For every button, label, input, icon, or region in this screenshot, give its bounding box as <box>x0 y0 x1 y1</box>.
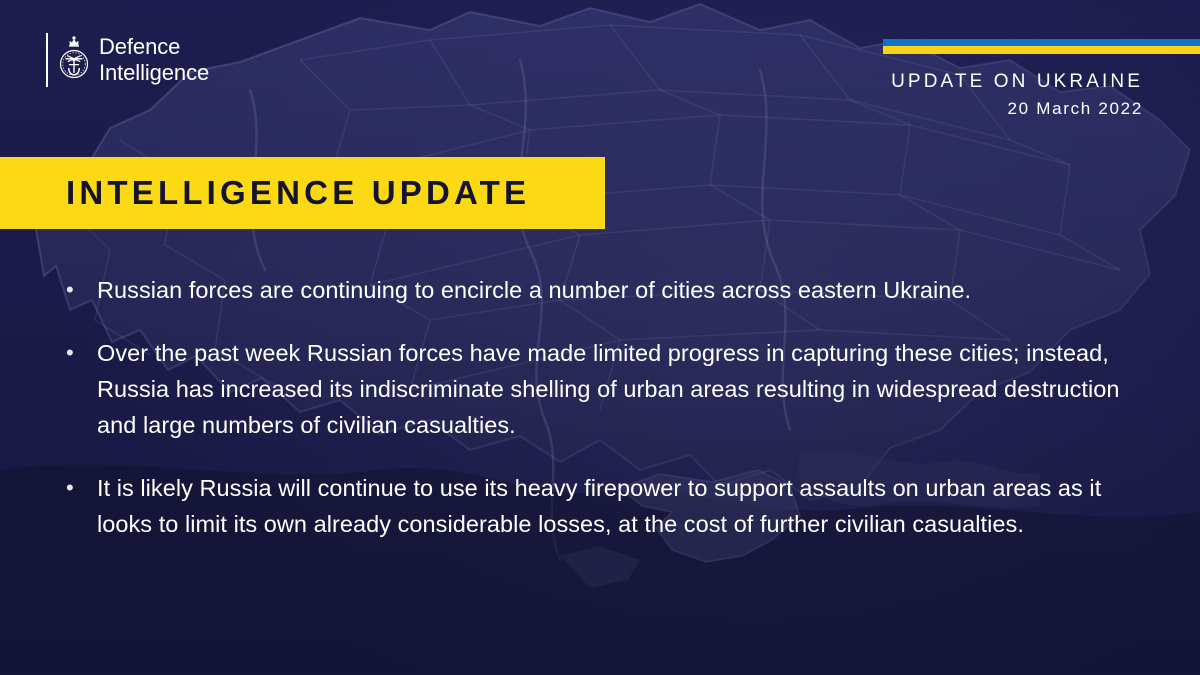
update-title: UPDATE ON UKRAINE <box>891 70 1143 93</box>
update-date: 20 March 2022 <box>891 98 1143 120</box>
bullet-text: Over the past week Russian forces have m… <box>97 335 1137 443</box>
bullet-item: • Over the past week Russian forces have… <box>62 335 1137 443</box>
logo-divider-rule <box>46 33 48 87</box>
intelligence-update-slide: Defence Intelligence UPDATE ON UKRAINE 2… <box>0 0 1200 675</box>
bullet-marker: • <box>62 470 97 542</box>
defence-intelligence-logo: Defence Intelligence <box>46 33 209 87</box>
flag-yellow-band <box>883 46 1200 54</box>
bullet-marker: • <box>62 272 97 308</box>
intelligence-update-banner: INTELLIGENCE UPDATE <box>0 157 605 229</box>
header: Defence Intelligence UPDATE ON UKRAINE 2… <box>0 0 1200 140</box>
logo-line-2: Intelligence <box>99 60 209 86</box>
bullet-text: Russian forces are continuing to encircl… <box>97 272 971 308</box>
flag-blue-band <box>883 39 1200 46</box>
ukraine-flag-bar <box>883 39 1200 54</box>
header-title-block: UPDATE ON UKRAINE 20 March 2022 <box>891 70 1143 120</box>
banner-label: INTELLIGENCE UPDATE <box>66 174 530 212</box>
logo-line-1: Defence <box>99 34 209 60</box>
bullet-marker: • <box>62 335 97 443</box>
bullet-list: • Russian forces are continuing to encir… <box>62 272 1137 542</box>
logo-wordmark: Defence Intelligence <box>99 34 209 86</box>
bullet-item: • It is likely Russia will continue to u… <box>62 470 1137 542</box>
bullet-item: • Russian forces are continuing to encir… <box>62 272 1137 308</box>
mod-defence-intelligence-crest-icon <box>59 33 89 87</box>
bullet-text: It is likely Russia will continue to use… <box>97 470 1137 542</box>
